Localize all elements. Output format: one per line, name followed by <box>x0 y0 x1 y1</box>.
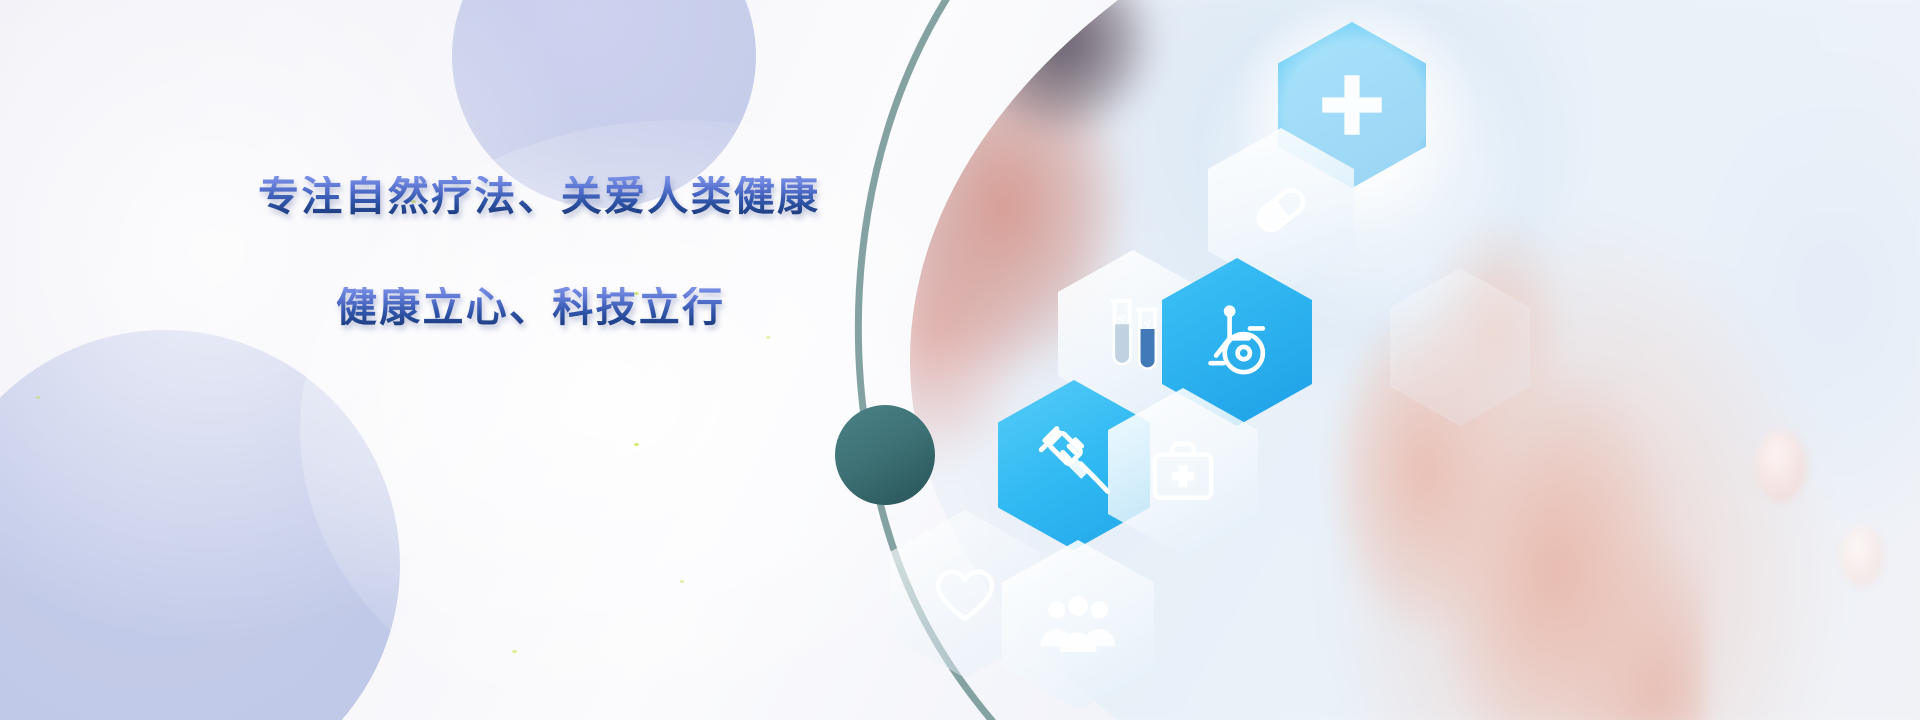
decorative-hexagon <box>1390 268 1530 426</box>
hero-banner: 专注自然疗法、关爱人类健康 健康立心、科技立行 <box>0 0 1920 720</box>
sparkle-dot <box>680 580 684 583</box>
decorative-circle-bottom <box>0 330 400 720</box>
sparkle-dot <box>634 443 639 446</box>
sparkle-dot <box>766 336 770 339</box>
headline-line-1: 专注自然疗法、关爱人类健康 <box>258 176 878 217</box>
sparkle-dot <box>36 396 40 399</box>
people-glyph <box>1036 588 1120 662</box>
wheelchair-glyph <box>1197 302 1277 382</box>
heart-glyph <box>927 556 1003 632</box>
syringe-glyph <box>1031 422 1117 508</box>
hexagon-icon-cluster <box>830 0 1920 720</box>
headline-line-2: 健康立心、科技立行 <box>336 287 878 328</box>
capsule-glyph <box>1242 171 1320 249</box>
headline-block: 专注自然疗法、关爱人类健康 健康立心、科技立行 <box>258 176 878 328</box>
test-tubes-glyph <box>1096 292 1170 376</box>
decorative-white-wash <box>0 0 660 700</box>
bag-glyph <box>1144 433 1222 511</box>
sparkle-dot <box>512 650 517 653</box>
